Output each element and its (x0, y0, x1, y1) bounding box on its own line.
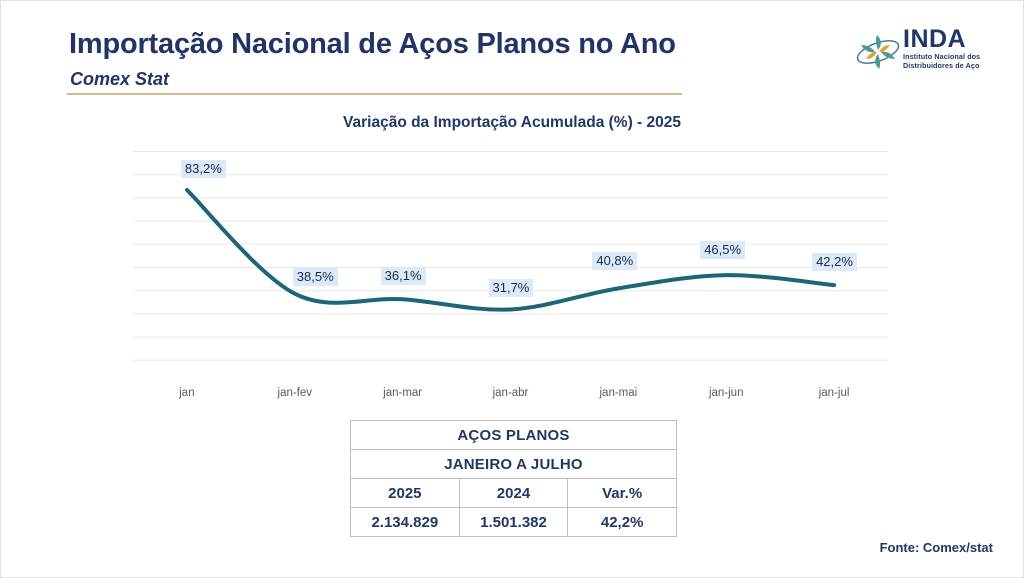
data-label: 46,5% (700, 241, 745, 259)
inda-logo-text: INDA Instituto Nacional dos Distribuidor… (903, 27, 995, 70)
table-row-values: 2.134.8291.501.38242,2% (351, 508, 677, 537)
table-value-cell-0: 2.134.829 (351, 508, 460, 537)
inda-tagline-line-1: Instituto Nacional dos (903, 52, 995, 61)
chart-title: Variação da Importação Acumulada (%) - 2… (1, 114, 1023, 132)
data-label: 40,8% (592, 252, 637, 270)
table-header-cell-2: Var.% (568, 479, 677, 508)
x-axis-tick-2: jan-mar (349, 387, 457, 405)
chart-gridlines (133, 152, 888, 384)
data-label: 36,1% (381, 267, 426, 285)
table-title-cell: AÇOS PLANOS (351, 421, 677, 450)
inda-logo: INDA Instituto Nacional dos Distribuidor… (855, 27, 995, 77)
table-row-title: AÇOS PLANOS (351, 421, 677, 450)
summary-table: AÇOS PLANOS JANEIRO A JULHO 20252024Var.… (350, 420, 677, 537)
table-row-headers: 20252024Var.% (351, 479, 677, 508)
table-value-cell-1: 1.501.382 (459, 508, 568, 537)
x-axis-tick-1: jan-fev (241, 387, 349, 405)
data-label: 31,7% (489, 279, 534, 297)
source-note: Fonte: Comex/stat (880, 540, 993, 555)
slide-canvas: Importação Nacional de Aços Planos no An… (0, 0, 1024, 578)
table-row-period: JANEIRO A JULHO (351, 450, 677, 479)
table-header-cell-0: 2025 (351, 479, 460, 508)
data-label: 42,2% (812, 253, 857, 271)
x-axis-tick-4: jan-mai (564, 387, 672, 405)
table-header-cell-1: 2024 (459, 479, 568, 508)
inda-logo-name: INDA (903, 27, 995, 52)
header-divider (67, 93, 682, 95)
data-label: 38,5% (293, 268, 338, 286)
x-axis-tick-0: jan (133, 387, 241, 405)
x-axis-tick-6: jan-jul (780, 387, 888, 405)
page-subtitle: Comex Stat (70, 69, 169, 90)
table-value-cell-2: 42,2% (568, 508, 677, 537)
x-axis-tick-3: jan-abr (457, 387, 565, 405)
data-label: 83,2% (181, 160, 226, 178)
x-axis-tick-5: jan-jun (672, 387, 780, 405)
line-chart: 83,2%38,5%36,1%31,7%40,8%46,5%42,2% (133, 151, 888, 383)
table-period-cell: JANEIRO A JULHO (351, 450, 677, 479)
page-title: Importação Nacional de Aços Planos no An… (69, 28, 676, 61)
inda-tagline-line-2: Distribuidores de Aço (903, 61, 995, 70)
inda-swirl-icon (855, 31, 901, 73)
chart-x-axis: janjan-fevjan-marjan-abrjan-maijan-junja… (133, 387, 888, 405)
